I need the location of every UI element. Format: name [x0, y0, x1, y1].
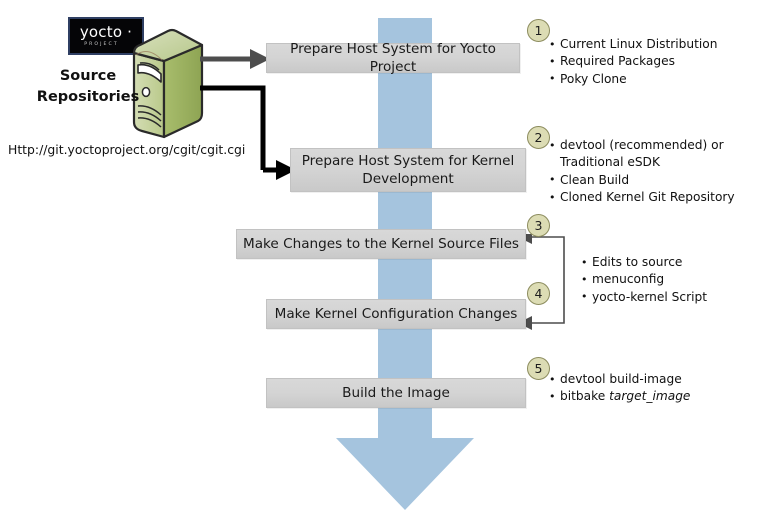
- step-2-number: 2: [535, 130, 543, 145]
- note-item: Current Linux Distribution: [549, 36, 763, 53]
- step-badge-1: 1: [527, 19, 550, 42]
- note-item: devtool (recommended) or Traditional eSD…: [549, 137, 767, 172]
- box-2-label: Prepare Host System for Kernel Developme…: [291, 152, 525, 188]
- step-badge-2: 2: [527, 126, 550, 149]
- note-item: yocto-kernel Script: [581, 289, 761, 306]
- step-badge-4: 4: [527, 282, 550, 305]
- note-item: Poky Clone: [549, 71, 763, 88]
- process-box-make-kernel-config-changes[interactable]: Make Kernel Configuration Changes: [266, 299, 526, 329]
- box-5-label: Build the Image: [342, 384, 450, 402]
- box-3-label: Make Changes to the Kernel Source Files: [243, 235, 519, 253]
- logo-subtitle: PROJECT: [84, 41, 119, 48]
- step-3-number: 3: [535, 218, 543, 233]
- note-item: Edits to source: [581, 254, 761, 271]
- note-item-line2: Traditional eSDK: [560, 154, 767, 171]
- note-item: Clean Build: [549, 172, 767, 189]
- logo-wordmark: yocto ·: [80, 25, 132, 40]
- note-item: Required Packages: [549, 53, 763, 70]
- note-item: bitbake target_image: [549, 388, 749, 405]
- process-box-build-image[interactable]: Build the Image: [266, 378, 526, 408]
- source-label-line2: Repositories: [32, 87, 144, 108]
- note-item: Cloned Kernel Git Repository: [549, 189, 767, 206]
- main-flow-arrow-icon: [336, 18, 474, 510]
- note-item: devtool build-image: [549, 371, 749, 388]
- source-repositories-label: Source Repositories: [32, 66, 144, 108]
- note-item: menuconfig: [581, 271, 761, 288]
- notes-step-3-4: Edits to source menuconfig yocto-kernel …: [581, 254, 761, 306]
- step-badge-3: 3: [527, 214, 550, 237]
- note-item-argument: target_image: [609, 389, 690, 403]
- source-label-line1: Source: [32, 66, 144, 87]
- box-1-label: Prepare Host System for Yocto Project: [267, 40, 519, 76]
- process-box-prepare-host-kernel[interactable]: Prepare Host System for Kernel Developme…: [290, 148, 526, 192]
- notes-step-2: devtool (recommended) or Traditional eSD…: [549, 137, 767, 207]
- step-5-number: 5: [535, 361, 543, 376]
- step-1-number: 1: [535, 23, 543, 38]
- box-4-label: Make Kernel Configuration Changes: [275, 305, 518, 323]
- note-item-line1: devtool (recommended) or: [560, 138, 724, 152]
- note-item-command: bitbake: [560, 389, 609, 403]
- notes-step-5: devtool build-image bitbake target_image: [549, 371, 749, 406]
- diagram-canvas: yocto · PROJECT: [0, 0, 769, 517]
- notes-step-1: Current Linux Distribution Required Pack…: [549, 36, 763, 88]
- step-badge-5: 5: [527, 357, 550, 380]
- process-box-make-kernel-source-changes[interactable]: Make Changes to the Kernel Source Files: [236, 229, 526, 259]
- step-4-number: 4: [535, 286, 543, 301]
- process-box-prepare-host-yocto[interactable]: Prepare Host System for Yocto Project: [266, 43, 520, 73]
